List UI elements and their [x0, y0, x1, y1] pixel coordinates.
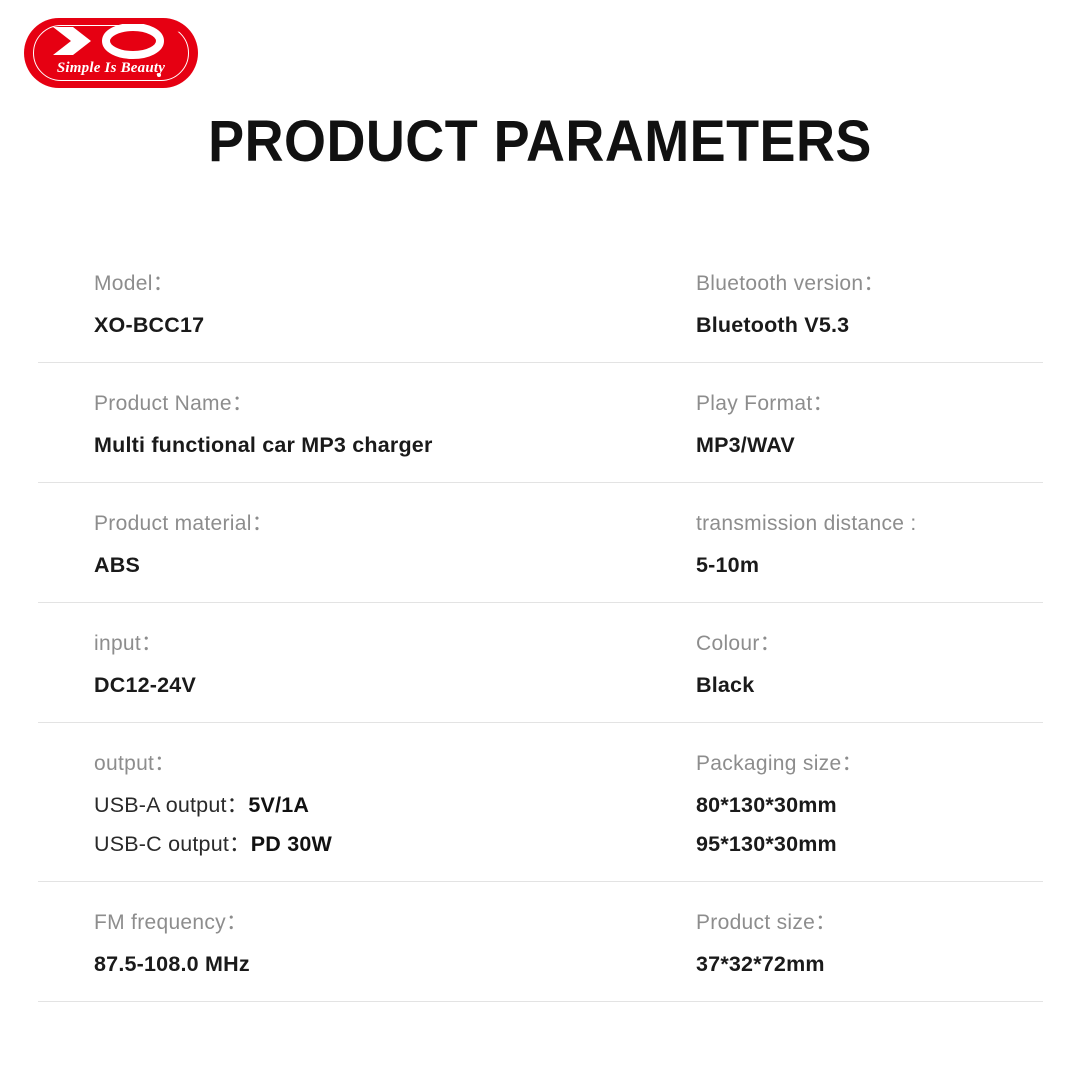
spec-value: 80*130*30mm: [696, 790, 1043, 820]
spec-cell-colour: Colour： Black: [696, 603, 1043, 722]
table-row: Product material： ABS transmission dista…: [38, 483, 1043, 603]
spec-label: Packaging size：: [696, 749, 1043, 779]
spec-label: transmission distance :: [696, 509, 1043, 539]
spec-value: Black: [696, 670, 1043, 700]
brand-logo: Simple Is Beauty: [24, 18, 198, 88]
spec-cell-fm-frequency: FM frequency： 87.5-108.0 MHz: [38, 882, 696, 1001]
spec-value-usb-a: USB-A output：5V/1A: [94, 790, 696, 820]
spec-cell-model: Model： XO-BCC17: [38, 243, 696, 362]
spec-value-prefix: USB-A output：: [94, 793, 248, 817]
spec-label: input：: [94, 629, 696, 659]
table-row: output： USB-A output：5V/1A USB-C output：…: [38, 723, 1043, 882]
spec-cell-product-material: Product material： ABS: [38, 483, 696, 602]
spec-value: MP3/WAV: [696, 430, 1043, 460]
logo-tagline: Simple Is Beauty: [24, 60, 198, 77]
spec-value: 87.5-108.0 MHz: [94, 949, 696, 979]
spec-value: Bluetooth V5.3: [696, 310, 1043, 340]
spec-cell-output: output： USB-A output：5V/1A USB-C output：…: [38, 723, 696, 881]
spec-cell-transmission-distance: transmission distance : 5-10m: [696, 483, 1043, 602]
spec-cell-input: input： DC12-24V: [38, 603, 696, 722]
spec-value-alt: 95*130*30mm: [696, 829, 1043, 859]
spec-label: Product Name：: [94, 389, 696, 419]
spec-cell-bluetooth-version: Bluetooth version： Bluetooth V5.3: [696, 243, 1043, 362]
spec-value-prefix: USB-C output：: [94, 832, 251, 856]
spec-value-amount: PD 30W: [251, 832, 332, 856]
spec-label: FM frequency：: [94, 908, 696, 938]
spec-value: 5-10m: [696, 550, 1043, 580]
spec-value: ABS: [94, 550, 696, 580]
spec-label: Product material：: [94, 509, 696, 539]
spec-value: Multi functional car MP3 charger: [94, 430, 696, 460]
spec-cell-product-size: Product size： 37*32*72mm: [696, 882, 1043, 1001]
spec-cell-packaging-size: Packaging size： 80*130*30mm 95*130*30mm: [696, 723, 1043, 881]
spec-value-usb-c: USB-C output：PD 30W: [94, 829, 696, 859]
spec-label: Play Format：: [696, 389, 1043, 419]
spec-label: output：: [94, 749, 696, 779]
spec-value: DC12-24V: [94, 670, 696, 700]
spec-value: 37*32*72mm: [696, 949, 1043, 979]
spec-label: Bluetooth version：: [696, 269, 1043, 299]
table-row: FM frequency： 87.5-108.0 MHz Product siz…: [38, 882, 1043, 1002]
logo-wordmark-xo: [24, 24, 198, 60]
spec-cell-product-name: Product Name： Multi functional car MP3 c…: [38, 363, 696, 482]
table-row: Product Name： Multi functional car MP3 c…: [38, 363, 1043, 483]
spec-label: Colour：: [696, 629, 1043, 659]
spec-value: XO-BCC17: [94, 310, 696, 340]
spec-label: Model：: [94, 269, 696, 299]
spec-label: Product size：: [696, 908, 1043, 938]
table-row: input： DC12-24V Colour： Black: [38, 603, 1043, 723]
page-title: PRODUCT PARAMETERS: [38, 108, 1042, 176]
spec-table: Model： XO-BCC17 Bluetooth version： Bluet…: [38, 243, 1043, 1002]
spec-value-amount: 5V/1A: [248, 793, 309, 817]
table-row: Model： XO-BCC17 Bluetooth version： Bluet…: [38, 243, 1043, 363]
spec-cell-play-format: Play Format： MP3/WAV: [696, 363, 1043, 482]
